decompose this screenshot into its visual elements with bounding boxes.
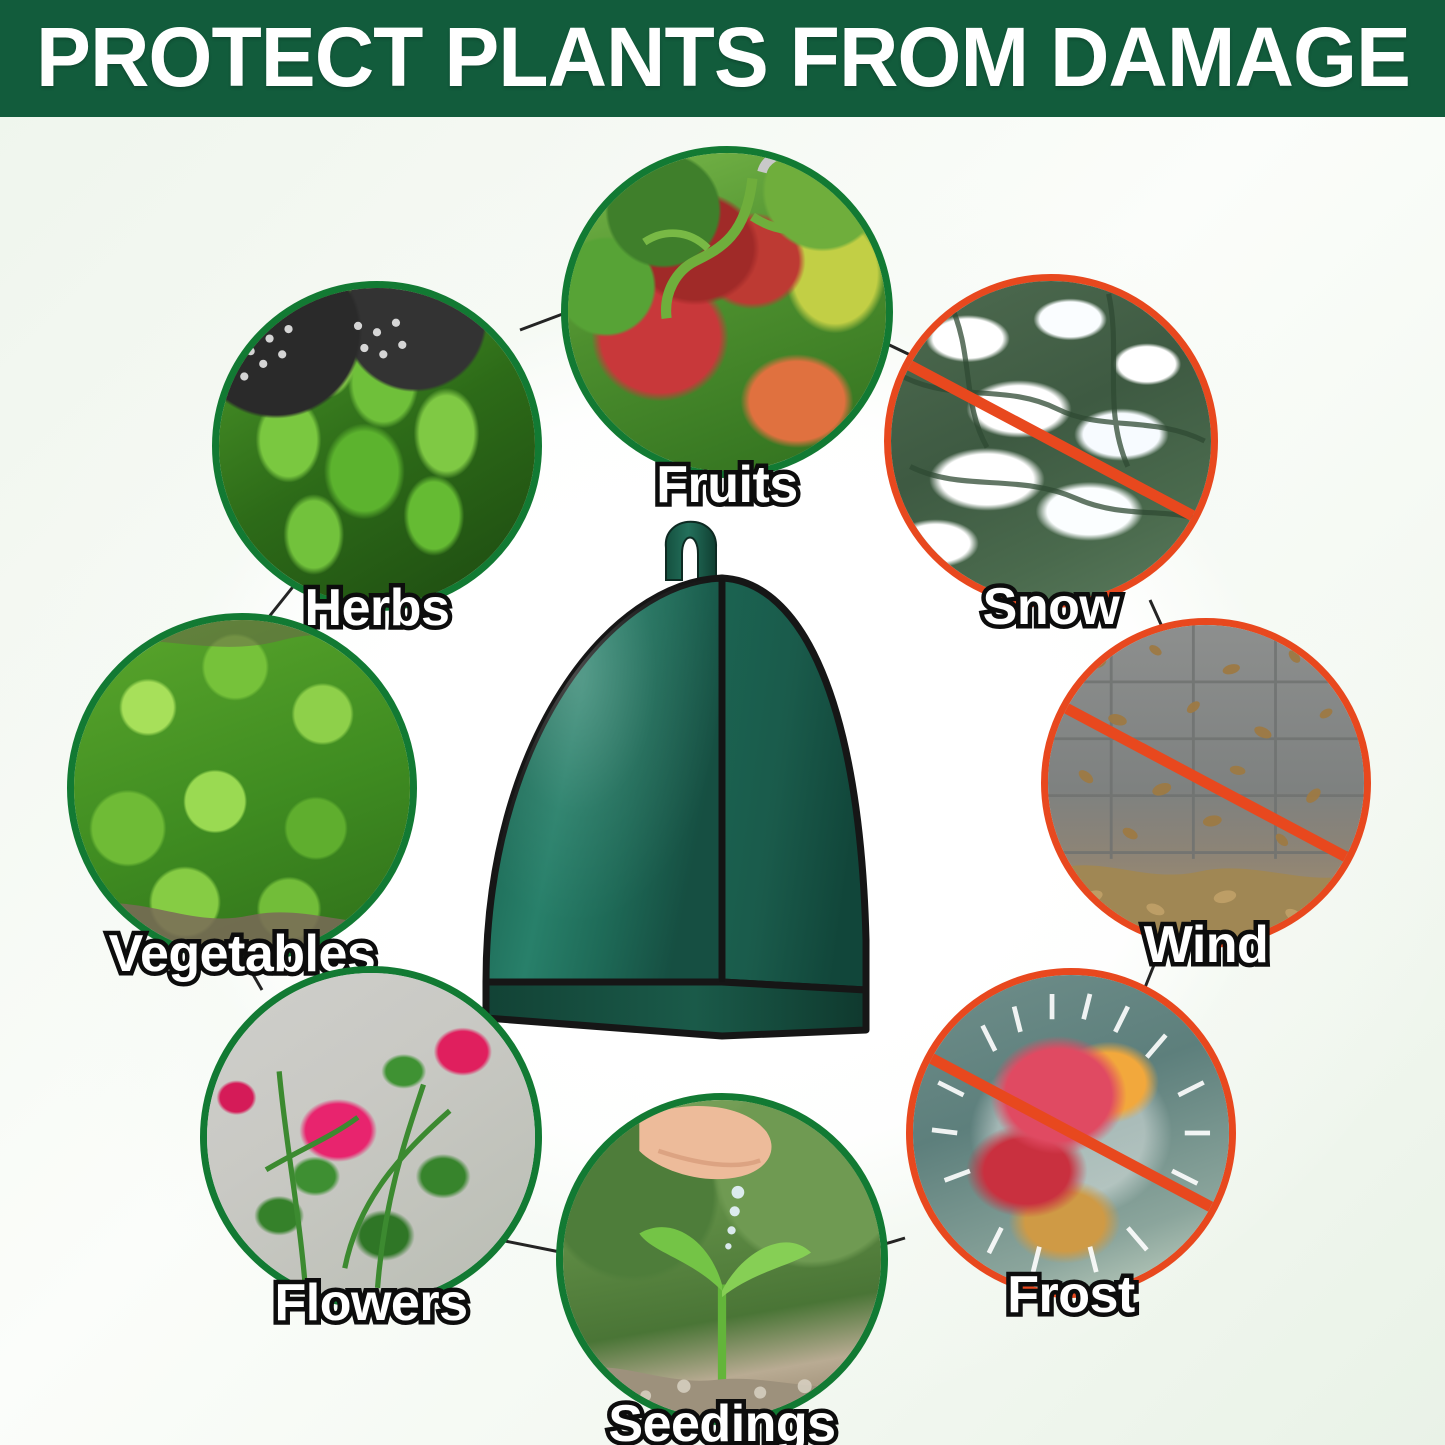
soil-overlay [74,620,410,956]
vine-stem-overlay [568,153,886,471]
wind-disc [1041,618,1371,948]
product-body [486,578,866,1036]
fruits-disc [561,146,893,478]
node-herbs[interactable]: Herbs [212,281,542,611]
wind-label: Wind [1144,918,1269,972]
seedings-label: Seedings [608,1397,835,1445]
mesh-pot-overlay [219,288,535,604]
node-frost[interactable]: Frost [906,968,1236,1298]
snow-disc [884,274,1218,608]
node-wind[interactable]: Wind [1041,618,1371,948]
banner-title: PROTECT PLANTS FROM DAMAGE [36,15,1410,103]
node-fruits[interactable]: Fruits [561,146,893,478]
node-snow[interactable]: Snow [884,274,1218,608]
vegetables-disc [67,613,417,963]
fruits-label: Fruits [656,458,797,512]
snow-label: Snow [983,580,1120,634]
flowers-label: Flowers [275,1276,468,1330]
herbs-disc [212,281,542,611]
product-handle-loop [666,522,716,580]
node-flowers[interactable]: Flowers [200,966,542,1308]
seedling-overlay [563,1100,881,1418]
node-seedings[interactable]: Seedings [556,1093,888,1425]
frost-label: Frost [1007,1268,1135,1322]
seedings-disc [556,1093,888,1425]
node-vegetables[interactable]: Vegetables [67,613,417,963]
header-banner: PROTECT PLANTS FROM DAMAGE [0,0,1445,117]
rose-stems-overlay [207,973,535,1301]
frost-disc [906,968,1236,1298]
flowers-disc [200,966,542,1308]
infographic-canvas: PROTECT PLANTS FROM DAMAGE [0,0,1445,1445]
